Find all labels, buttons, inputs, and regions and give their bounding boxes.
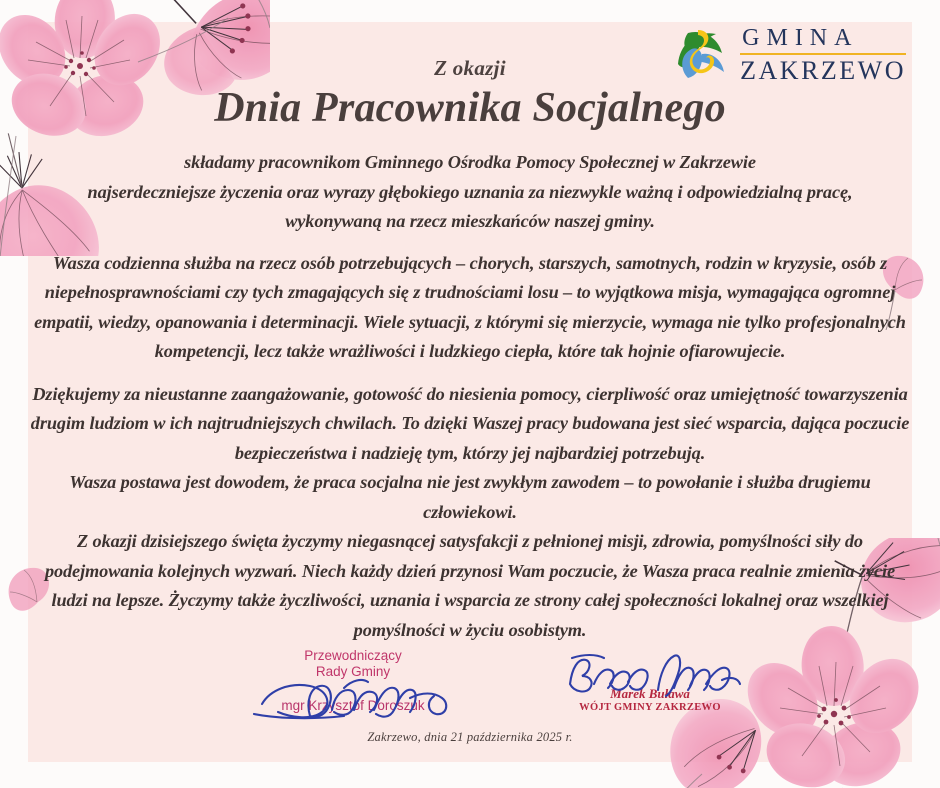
paragraph-5: Z okazji dzisiejszego święta życzymy nie… bbox=[30, 527, 910, 645]
paragraph-3: Dziękujemy za nieustanne zaangażowanie, … bbox=[30, 380, 910, 469]
page-title: Dnia Pracownika Socjalnego bbox=[0, 84, 940, 132]
paragraph-1-line-2: najserdeczniejsze życzenia oraz wyrazy g… bbox=[30, 178, 910, 208]
chairman-name: mgr Krzysztof Doroszuk bbox=[238, 698, 468, 714]
mayor-role: WÓJT GMINY ZAKRZEWO bbox=[530, 701, 770, 714]
paragraph-2: Wasza codzienna służba na rzecz osób pot… bbox=[30, 249, 910, 367]
logo-gmina-text: GMINA bbox=[740, 26, 906, 55]
signature-block-chairman: Przewodniczący Rady Gminy mgr Krzysztof … bbox=[238, 648, 468, 714]
signature-block-mayor: Marek Buława WÓJT GMINY ZAKRZEWO bbox=[530, 648, 770, 714]
paragraph-4: Wasza postawa jest dowodem, że praca soc… bbox=[30, 468, 910, 527]
body-copy: składamy pracownikom Gminnego Ośrodka Po… bbox=[30, 148, 910, 645]
signature-area: Przewodniczący Rady Gminy mgr Krzysztof … bbox=[0, 648, 940, 728]
occasion-heading: Z okazji bbox=[0, 56, 940, 81]
chairman-role-line-2: Rady Gminy bbox=[238, 664, 468, 680]
chairman-role-line-1: Przewodniczący bbox=[238, 648, 468, 664]
paragraph-1-line-3: wykonywaną na rzecz mieszkańców naszej g… bbox=[30, 207, 910, 237]
certificate-card: GMINA ZAKRZEWO Z okazji Dnia Pracownika … bbox=[0, 0, 940, 788]
date-line: Zakrzewo, dnia 21 października 2025 r. bbox=[0, 730, 940, 745]
mayor-name: Marek Buława bbox=[530, 686, 770, 701]
paragraph-1-line-1: składamy pracownikom Gminnego Ośrodka Po… bbox=[30, 148, 910, 178]
